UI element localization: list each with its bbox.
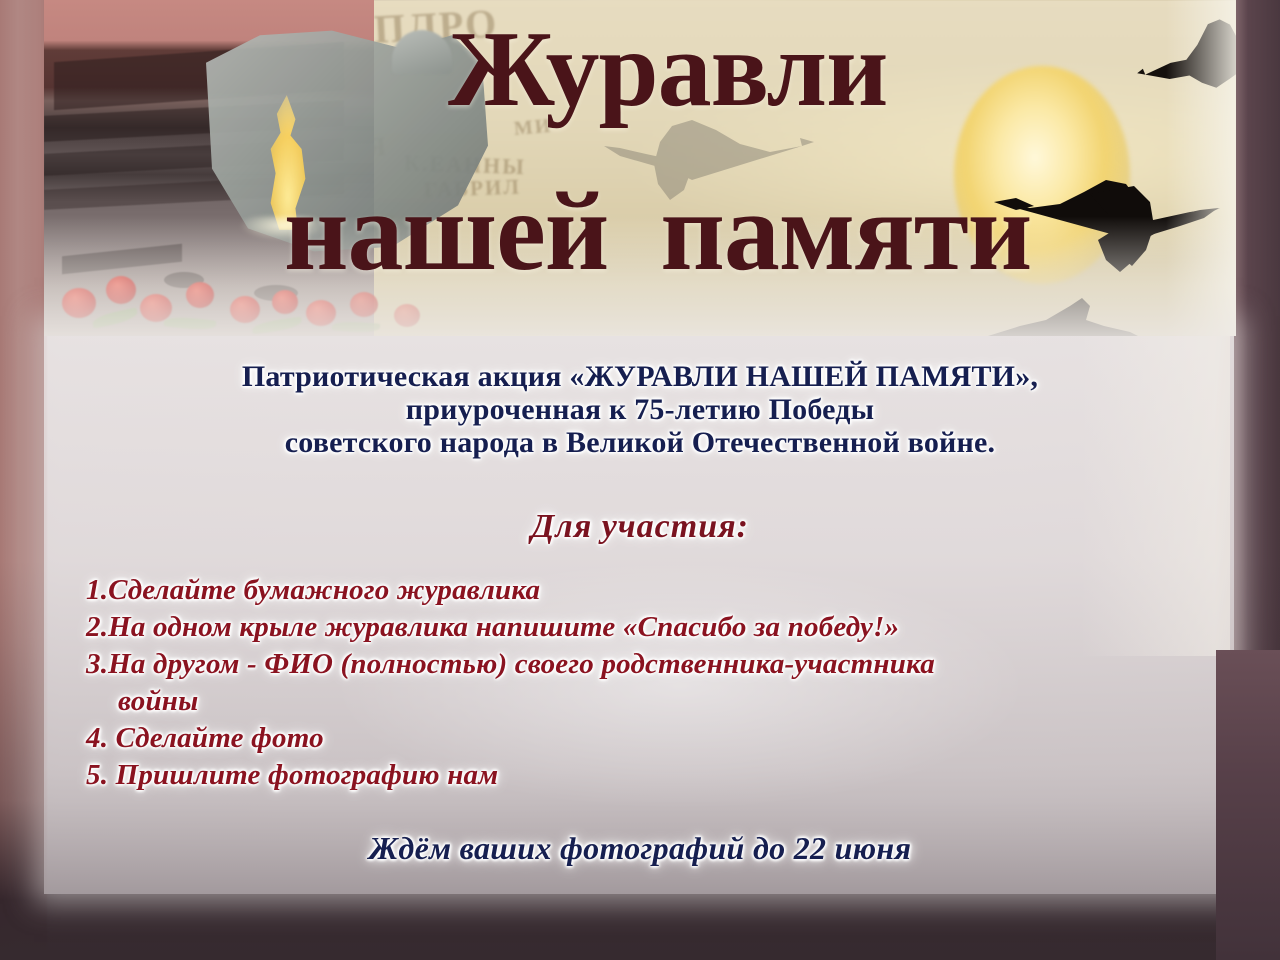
page-title-word-nashey: нашей xyxy=(284,170,608,294)
lead-line: приуроченная к 75-летию Победы xyxy=(0,393,1280,426)
page-title-line-1: Журавли xyxy=(448,16,887,124)
lead-paragraph: Патриотическая акция «ЖУРАВЛИ НАШЕЙ ПАМЯ… xyxy=(0,360,1280,459)
participation-subheading: Для участия: xyxy=(0,508,1280,546)
lead-line: Патриотическая акция «ЖУРАВЛИ НАШЕЙ ПАМЯ… xyxy=(0,360,1280,393)
list-item: 3.На другом - ФИО (полностью) своего род… xyxy=(86,646,1246,683)
lead-line: советского народа в Великой Отечественно… xyxy=(0,426,1280,459)
list-item: 2.На одном крыле журавлика напишите «Спа… xyxy=(86,609,1246,646)
list-item-continuation: войны xyxy=(86,683,1246,720)
participation-steps-list: 1.Сделайте бумажного журавлика 2.На одно… xyxy=(86,572,1246,794)
hero-banner-image: ПЛРО САХАРЯ К.ЕАННЫ В ГАБРИЛ ЛЕВ МИ xyxy=(44,0,1236,336)
list-item: 5. Пришлите фотографию нам xyxy=(86,757,1246,794)
closing-deadline-text: Ждём ваших фотографий до 22 июня xyxy=(0,830,1280,867)
list-item: 4. Сделайте фото xyxy=(86,720,1246,757)
poster-canvas: ПЛРО САХАРЯ К.ЕАННЫ В ГАБРИЛ ЛЕВ МИ xyxy=(0,0,1280,960)
page-title-line-2: нашейпамяти xyxy=(284,176,1031,288)
list-item: 1.Сделайте бумажного журавлика xyxy=(86,572,1246,609)
page-title-word-pamyati: памяти xyxy=(660,170,1031,294)
